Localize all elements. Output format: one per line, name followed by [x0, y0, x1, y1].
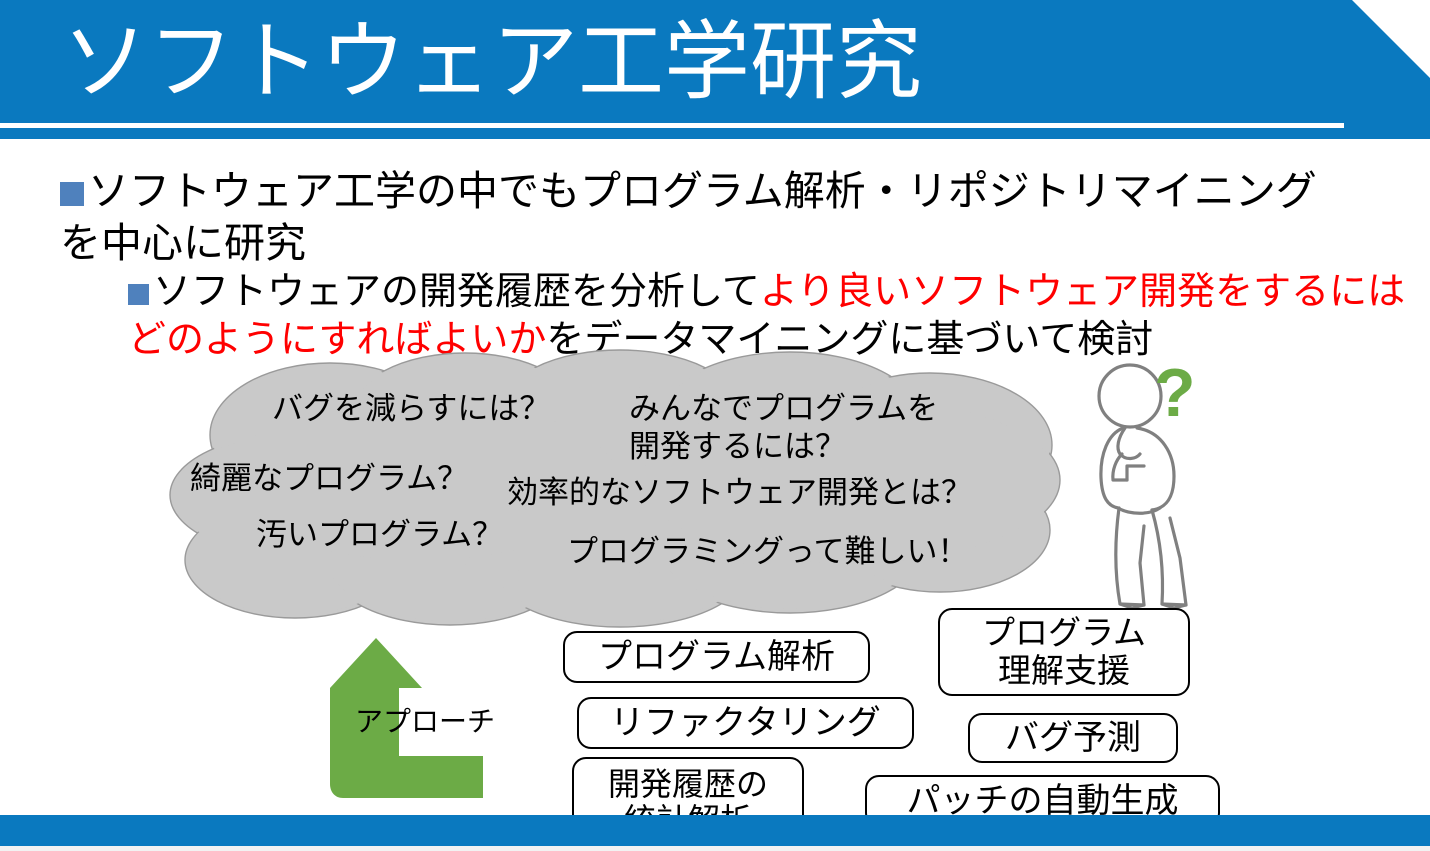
footer-bar — [0, 815, 1430, 846]
square-bullet-icon — [60, 182, 84, 206]
cloud-question-2: みんなでプログラムを 開発するには？ — [629, 390, 938, 466]
bullet-level1: ソフトウェア工学の中でもプログラム解析・リポジトリマイニング を中心に研究 — [60, 165, 1420, 269]
approach-box-refactoring[interactable]: リファクタリング — [577, 697, 914, 749]
cloud-question-3: 綺麗なプログラム？ — [190, 460, 468, 498]
approach-label: アプローチ — [355, 700, 495, 740]
bullet-level2-seg3: をデータマイニングに基づいて検討 — [546, 319, 1153, 361]
cloud-question-4: 効率的なソフトウェア開発とは？ — [507, 474, 972, 512]
footer-edge — [0, 846, 1430, 851]
bullet-level1-line1: ソフトウェア工学の中でもプログラム解析・リポジトリマイニング — [88, 168, 1317, 214]
question-mark-icon: ? — [1148, 358, 1208, 438]
cloud-question-6: プログラミングって難しい！ — [567, 533, 968, 571]
page-title: ソフトウェア工学研究 — [62, 6, 922, 118]
approach-box-program-understanding[interactable]: プログラム 理解支援 — [938, 608, 1190, 696]
cloud-question-5: 汚いプログラム？ — [256, 516, 503, 554]
svg-text:?: ? — [1154, 358, 1196, 431]
title-banner-underbar — [0, 128, 1430, 139]
title-banner-white-rule — [0, 123, 1430, 128]
bullet-level2: ソフトウェアの開発履歴を分析してより良いソフトウェア開発をするにはどのようにすれ… — [128, 268, 1428, 364]
approach-box-program-analysis[interactable]: プログラム解析 — [563, 631, 870, 683]
cloud-question-1: バグを減らすには？ — [272, 390, 550, 428]
bullet-level2-seg1: ソフトウェアの開発履歴を分析して — [153, 271, 760, 313]
slide-canvas: ソフトウェア工学研究 ソフトウェア工学の中でもプログラム解析・リポジトリマイニン… — [0, 0, 1430, 851]
approach-box-bug-prediction[interactable]: バグ予測 — [968, 713, 1178, 763]
title-banner-corner-notch — [1344, 123, 1430, 128]
bullet-level1-line2: を中心に研究 — [60, 217, 1420, 269]
square-bullet-icon — [128, 284, 149, 305]
